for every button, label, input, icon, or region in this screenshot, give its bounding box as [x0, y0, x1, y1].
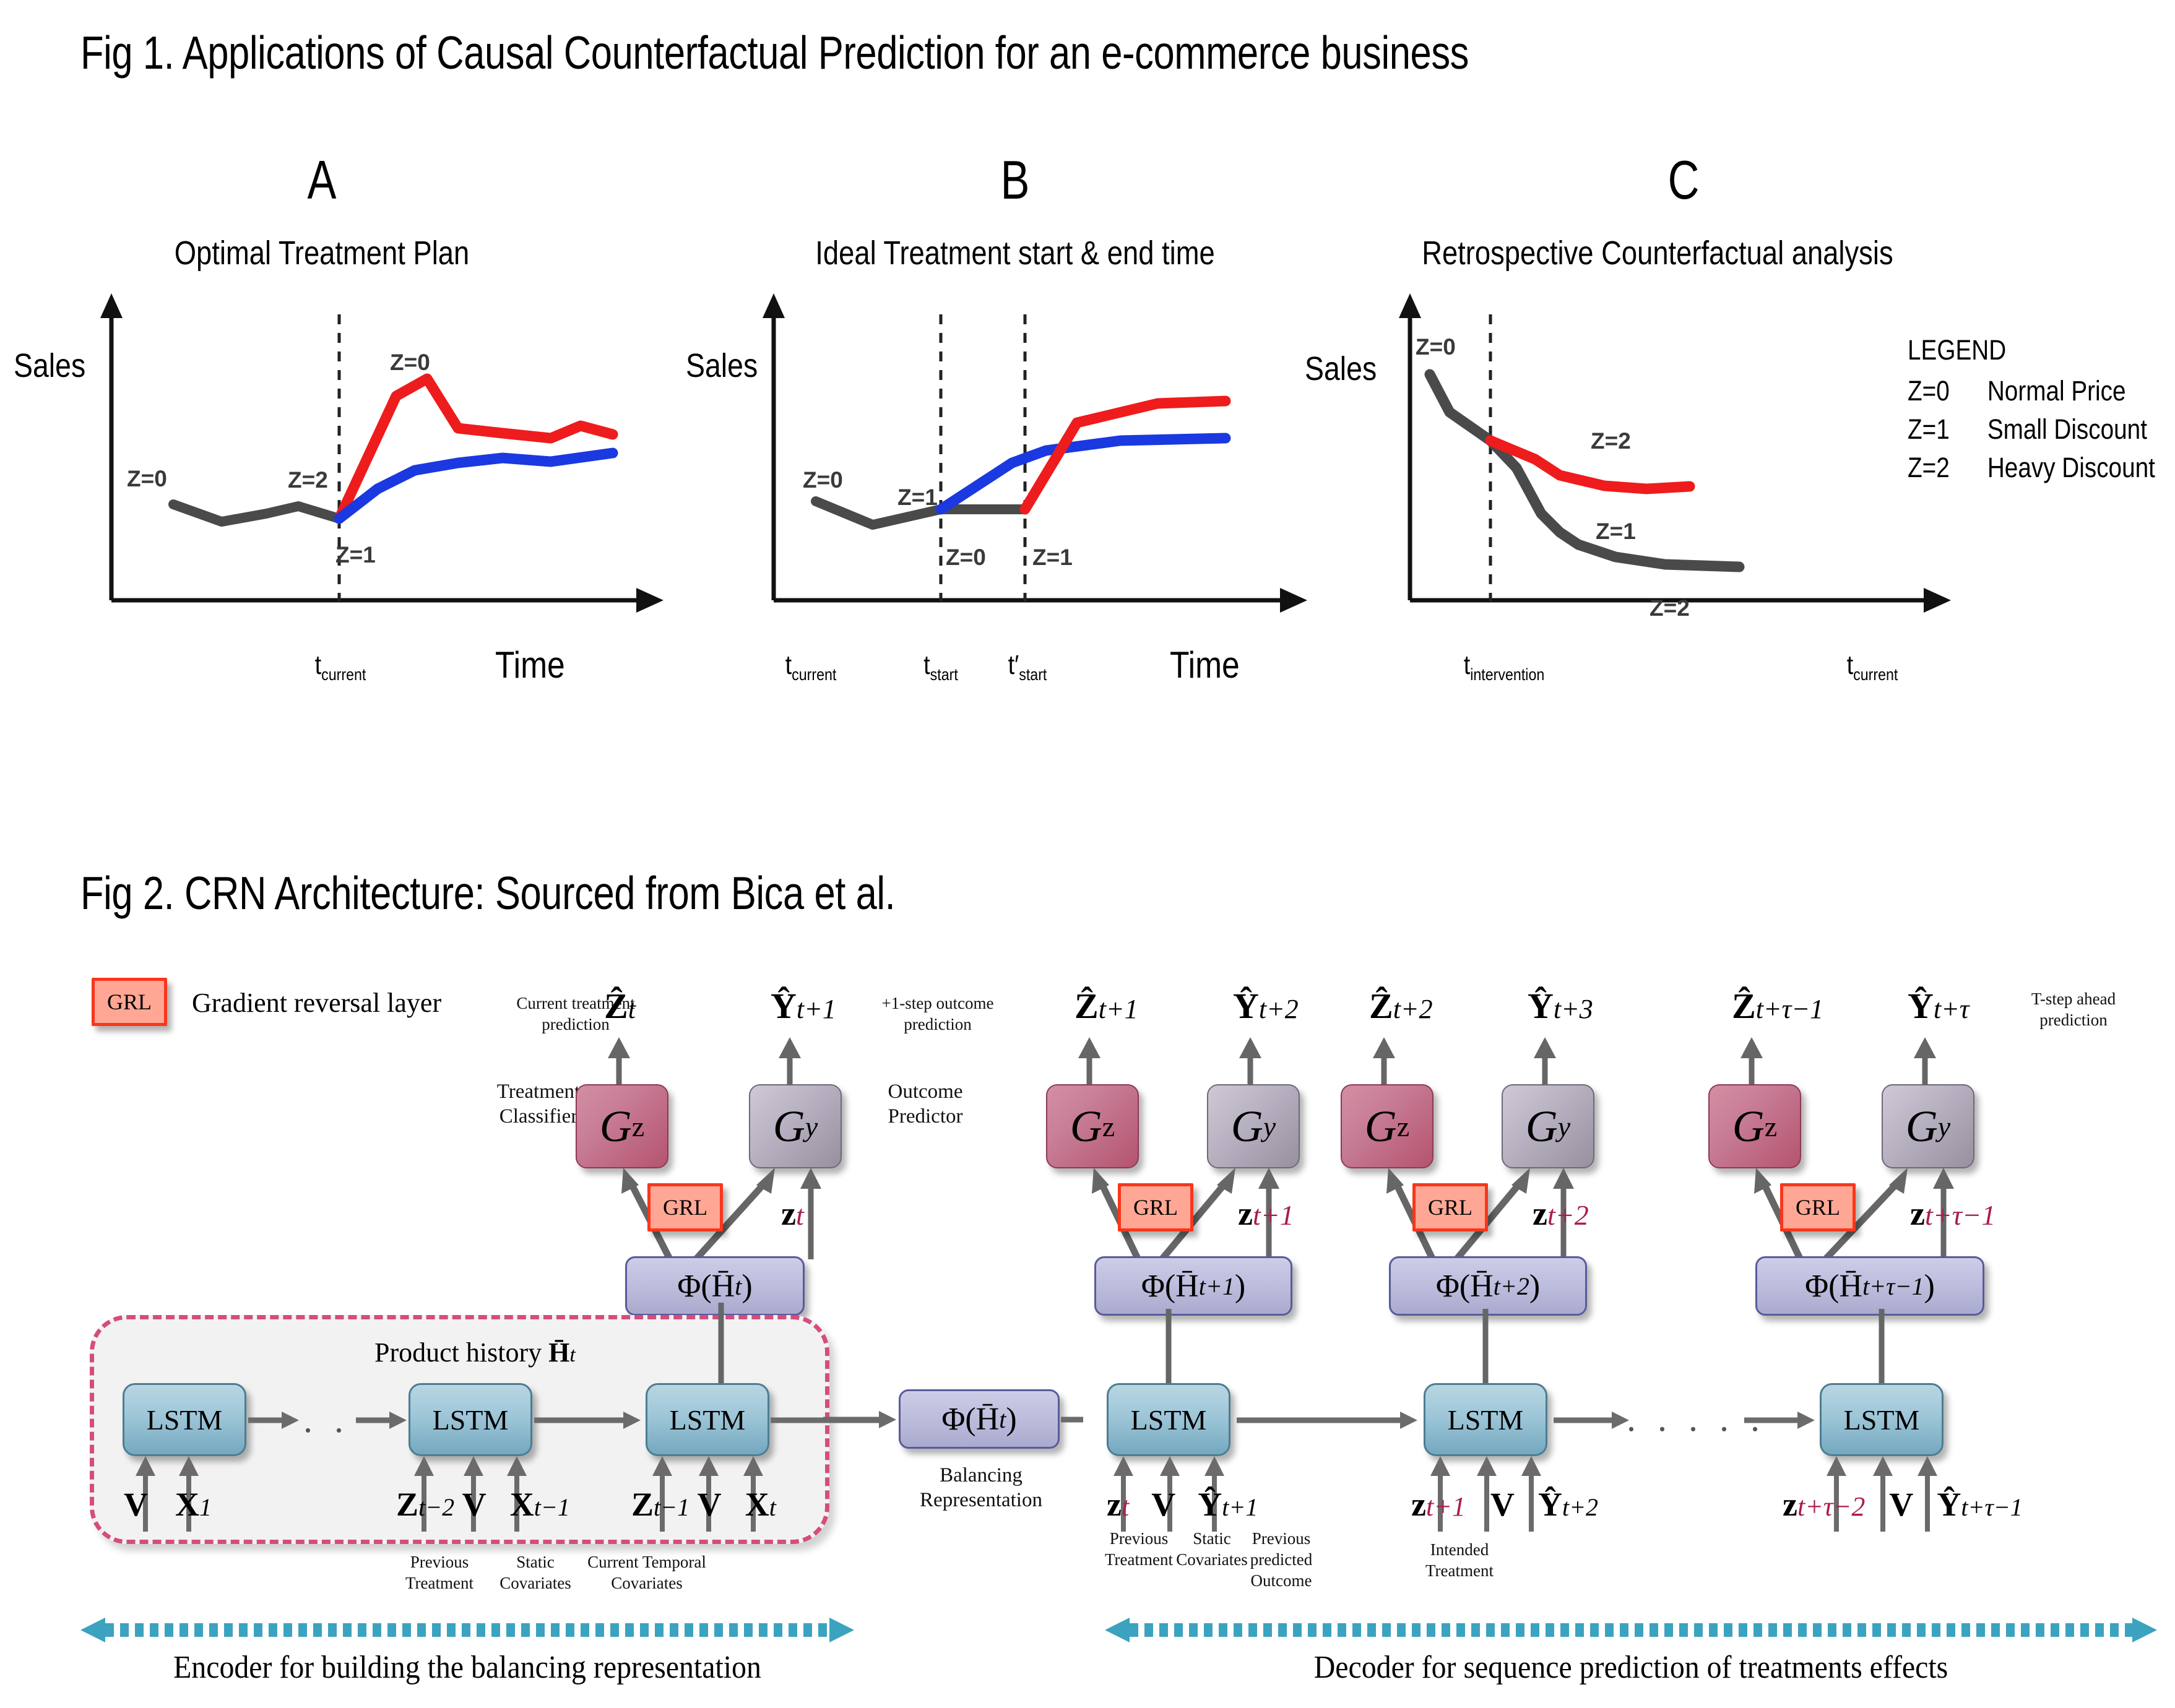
gy-box-decoder-last: Gy [1882, 1084, 1974, 1168]
gy-box-encoder-head: Gy [749, 1084, 842, 1168]
note-line-2: Treatment [1404, 1561, 1515, 1582]
legend-row: Z=0 Normal Price [1908, 375, 2155, 407]
grl-box-encoder-head: GRL [647, 1183, 723, 1231]
y-hat-symbol: Ŷ [1528, 986, 1554, 1026]
label-line-2: Representation [897, 1488, 1065, 1513]
lstm-decoder-2-inputs: zt+1 V Ŷt+2 [1411, 1485, 1598, 1524]
balancing-representation-label: Balancing Representation [897, 1464, 1065, 1512]
input-subscript: t−1 [534, 1493, 570, 1521]
panel-b-annotation-z0-lower: Z=0 [946, 545, 986, 571]
gz-symbol: G [1070, 1101, 1102, 1152]
input-symbol-z: z [1411, 1486, 1426, 1523]
gy-symbol: G [773, 1101, 805, 1152]
phi-box-encoder-head: Φ(H̄t) [625, 1256, 805, 1316]
panel-b-annotation-z0-left: Z=0 [803, 467, 843, 493]
phi-subscript: t+2 [1494, 1272, 1529, 1301]
note-line-3: Outcome [1232, 1571, 1331, 1592]
z-hat-output-decoder-last: Ẑt+τ−1 [1732, 985, 1823, 1027]
note-line-1: Intended [1404, 1540, 1515, 1561]
decoder-input-note-intended-treatment: IntendedTreatment [1404, 1540, 1515, 1582]
tick-base: t [1847, 650, 1854, 680]
panel-b-annotation-z1-lower: Z=1 [1032, 545, 1073, 571]
legend-row: Z=1 Small Discount [1908, 413, 2155, 446]
lstm-encoder-2-inputs: Zt−2 V Xt−1 [396, 1485, 570, 1524]
lstm-decoder-3-inputs: zt+τ−2 V Ŷt+τ−1 [1783, 1485, 2023, 1524]
input-symbol-z: Z [396, 1486, 418, 1523]
encoder-caption: Encoder for building the balancing repre… [111, 1649, 823, 1686]
z-hat-output-encoder-head: Ẑt [604, 985, 636, 1027]
phi-subscript: t+1 [1199, 1272, 1235, 1301]
input-symbol-v: V [698, 1486, 721, 1523]
note-line-2: Covariates [576, 1573, 718, 1594]
input-symbol-z: z [1783, 1486, 1797, 1523]
input-symbol-x: X [510, 1486, 534, 1523]
decoder-caption: Decoder for sequence prediction of treat… [1147, 1649, 2115, 1686]
legend-code: Z=2 [1908, 452, 1950, 483]
grl-legend-box-label: GRL [107, 989, 152, 1015]
grl-label: GRL [1428, 1194, 1472, 1220]
label-line-1: Outcome [860, 1080, 990, 1105]
input-subscript: 1 [199, 1493, 212, 1521]
panel-a-y-axis-label: Sales [14, 347, 85, 385]
phi-box-decoder-last: Φ(H̄t+τ−1) [1755, 1256, 1984, 1316]
phi-subscript: t+τ−1 [1862, 1272, 1924, 1301]
legend-desc: Normal Price [1987, 375, 2126, 407]
note-line-2: Treatment [384, 1573, 495, 1594]
gy-symbol: G [1231, 1101, 1263, 1152]
grl-legend-box: GRL [92, 978, 167, 1026]
gz-box-encoder-head: Gz [576, 1084, 668, 1168]
z-hat-subscript: t [628, 994, 636, 1024]
z-hat-subscript: t+2 [1393, 994, 1433, 1024]
encoder-span-arrow [80, 1616, 854, 1644]
panel-b-x-axis-label: Time [1170, 644, 1240, 686]
note-line-1: Current Temporal [576, 1552, 718, 1573]
phi-text: Φ(H̄ [677, 1268, 735, 1305]
z-hat-symbol: Ẑ [1369, 986, 1393, 1026]
encoder-ellipsis: . . [303, 1399, 350, 1441]
panel-b-tick-tprimestart: t′start [974, 650, 1081, 684]
note-line-1: +1-step outcome [860, 993, 1015, 1014]
panel-b-tick-tcurrent: tcurrent [752, 650, 869, 684]
input-subscript: t+τ−1 [1961, 1493, 2022, 1521]
label-line-1: Balancing [897, 1464, 1065, 1488]
panel-letter-a: A [282, 149, 361, 212]
z-input-subscript: t+τ−1 [1925, 1199, 1996, 1231]
gz-symbol: G [600, 1101, 632, 1152]
z-hat-subscript: t+τ−1 [1756, 994, 1823, 1024]
panel-subtitle-a: Optimal Treatment Plan [135, 234, 509, 272]
decoder-span-arrow [1105, 1616, 2157, 1644]
encoder-arrows [90, 1377, 882, 1556]
tick-sub: start [930, 665, 958, 684]
grl-label: GRL [1133, 1194, 1178, 1220]
grl-legend-description: Gradient reversal layer [192, 987, 441, 1019]
panel-c-annotation-z2-lower: Z=2 [1650, 595, 1690, 621]
phi-subscript: t [735, 1272, 742, 1301]
gy-subscript: y [805, 1110, 818, 1143]
panel-c-tick-tcurrent: tcurrent [1811, 650, 1934, 684]
legend-code: Z=0 [1908, 375, 1950, 407]
gz-box-decoder-2: Gz [1341, 1084, 1433, 1168]
z-input-subscript: t+2 [1547, 1199, 1589, 1231]
fig1-legend: LEGEND Z=0 Normal Price Z=1 Small Discou… [1908, 334, 2175, 484]
z-input-decoder-2: zt+2 [1533, 1194, 1589, 1233]
note-line-1: T-step ahead [2002, 989, 2145, 1010]
z-input-symbol: z [781, 1195, 796, 1232]
phi-box-decoder-2: Φ(H̄t+2) [1389, 1256, 1587, 1316]
note-line-1: Previous [384, 1552, 495, 1573]
phi-text: Φ(H̄ [1141, 1268, 1199, 1305]
fig1-title: Fig 1. Applications of Causal Counterfac… [80, 26, 1469, 79]
legend-heading: LEGEND [1908, 334, 2155, 366]
z-input-encoder-head: zt [781, 1194, 804, 1233]
panel-a-annotation-z0-left: Z=0 [127, 466, 167, 492]
input-symbol-yhat: Ŷ [1198, 1486, 1222, 1523]
y-hat-output-decoder-2: Ŷt+3 [1528, 985, 1593, 1027]
gy-subscript: y [1558, 1110, 1570, 1143]
tick-base: t [785, 650, 792, 680]
tick-base: t′ [1008, 650, 1019, 680]
encoder-input-note-current-temporal-covariates: Current TemporalCovariates [576, 1552, 718, 1594]
product-history-subscript: t [569, 1344, 575, 1366]
tick-base: t [923, 650, 930, 680]
z-hat-symbol: Ẑ [1732, 986, 1756, 1026]
input-symbol-x: X [175, 1486, 199, 1523]
tick-sub: intervention [1470, 665, 1544, 684]
input-subscript: t+1 [1426, 1491, 1466, 1522]
panel-subtitle-c: Retrospective Counterfactual analysis [1422, 234, 1859, 272]
phi-close: ) [1924, 1268, 1934, 1305]
z-input-symbol: z [1238, 1195, 1253, 1232]
y-hat-subscript: t+2 [1259, 994, 1299, 1024]
note-line-2: predicted [1232, 1550, 1331, 1571]
product-history-label: Product history H̄t [374, 1337, 576, 1368]
gz-symbol: G [1365, 1101, 1397, 1152]
input-symbol-yhat: Ŷ [1937, 1486, 1961, 1523]
product-history-symbol: H̄ [548, 1337, 569, 1368]
input-subscript: t+1 [1222, 1493, 1258, 1521]
tick-sub: start [1019, 665, 1047, 684]
tick-sub: current [321, 665, 366, 684]
tick-sub: current [1853, 665, 1898, 684]
note-line-1: Previous [1232, 1529, 1331, 1550]
encoder-input-note-previous-treatment: PreviousTreatment [384, 1552, 495, 1594]
panel-c-annotation-z0: Z=0 [1416, 334, 1456, 360]
input-subscript: t−1 [654, 1493, 690, 1521]
grl-box-decoder-1: GRL [1118, 1183, 1193, 1231]
legend-row: Z=2 Heavy Discount [1908, 452, 2155, 484]
y-hat-output-decoder-last: Ŷt+τ [1908, 985, 1970, 1027]
phi-box-decoder-1: Φ(H̄t+1) [1094, 1256, 1292, 1316]
gz-box-decoder-1: Gz [1046, 1084, 1139, 1168]
z-input-decoder-last: zt+τ−1 [1910, 1194, 1996, 1233]
legend-desc: Heavy Discount [1987, 452, 2155, 483]
panel-c-y-axis-label: Sales [1305, 350, 1377, 388]
note-line-2: Covariates [480, 1573, 591, 1594]
one-step-outcome-prediction-note: +1-step outcome prediction [860, 993, 1015, 1035]
label-line-2: Predictor [860, 1105, 990, 1129]
z-input-symbol: z [1910, 1195, 1925, 1232]
legend-code: Z=1 [1908, 413, 1950, 445]
input-symbol-v: V [462, 1486, 486, 1523]
z-hat-symbol: Ẑ [604, 986, 628, 1026]
input-symbol-yhat: Ŷ [1538, 1486, 1562, 1523]
legend-desc: Small Discount [1987, 413, 2147, 445]
y-hat-subscript: t+3 [1554, 994, 1593, 1024]
input-symbol-z: Z [631, 1486, 654, 1523]
phi-close: ) [1235, 1268, 1245, 1305]
gz-subscript: z [1397, 1110, 1409, 1143]
input-subscript: t+2 [1562, 1493, 1598, 1521]
panel-subtitle-b: Ideal Treatment start & end time [802, 234, 1229, 272]
z-input-decoder-1: zt+1 [1238, 1194, 1294, 1233]
z-hat-output-decoder-1: Ẑt+1 [1075, 985, 1138, 1027]
note-line-2: prediction [860, 1014, 1015, 1035]
input-symbol-v: V [124, 1486, 147, 1523]
input-symbol-x: X [745, 1486, 769, 1523]
gy-subscript: y [1263, 1110, 1276, 1143]
decoder-ellipsis: . . . . . [1627, 1397, 1766, 1440]
panel-c-annotation-z1: Z=1 [1596, 519, 1636, 545]
gz-subscript: z [1102, 1110, 1115, 1143]
grl-label: GRL [1796, 1194, 1840, 1220]
panel-c-annotation-z2-upper: Z=2 [1591, 428, 1631, 454]
panel-c-tick-tintervention: tintervention [1435, 650, 1573, 684]
gz-symbol: G [1732, 1101, 1765, 1152]
z-input-subscript: t [796, 1199, 804, 1231]
input-subscript: t−2 [418, 1493, 454, 1521]
phi-close: ) [742, 1268, 752, 1305]
panel-letter-c: C [1644, 149, 1723, 212]
panel-a-annotation-z1: Z=1 [335, 542, 376, 568]
y-hat-symbol: Ŷ [1233, 986, 1259, 1026]
product-history-text: Product history [374, 1337, 542, 1368]
gy-box-decoder-1: Gy [1207, 1084, 1300, 1168]
z-input-symbol: z [1533, 1195, 1547, 1232]
gy-subscript: y [1938, 1110, 1950, 1143]
tick-base: t [315, 650, 322, 680]
tick-sub: current [792, 665, 836, 684]
z-hat-output-decoder-2: Ẑt+2 [1369, 985, 1433, 1027]
panel-b-y-axis-label: Sales [686, 347, 758, 385]
grl-label: GRL [663, 1194, 707, 1220]
y-hat-subscript: t+1 [797, 994, 836, 1024]
panel-a-tick-tcurrent: tcurrent [282, 650, 399, 684]
balancing-connector-arrows [823, 1405, 1083, 1442]
input-symbol-v: V [1889, 1486, 1913, 1523]
input-subscript: t [769, 1493, 776, 1521]
panel-letter-b: B [975, 149, 1055, 212]
gy-symbol: G [1906, 1101, 1938, 1152]
gy-symbol: G [1526, 1101, 1558, 1152]
gy-box-decoder-2: Gy [1502, 1084, 1594, 1168]
z-hat-symbol: Ẑ [1075, 986, 1099, 1026]
note-line-2: prediction [2002, 1010, 2145, 1031]
panel-b-annotation-z1-upper: Z=1 [897, 485, 938, 511]
input-symbol-v: V [1151, 1486, 1175, 1523]
fig2-title: Fig 2. CRN Architecture: Sourced from Bi… [80, 866, 895, 920]
grl-box-decoder-last: GRL [1780, 1183, 1856, 1231]
gz-subscript: z [1765, 1110, 1777, 1143]
phi-close: ) [1529, 1268, 1540, 1305]
outcome-predictor-label: Outcome Predictor [860, 1080, 990, 1129]
y-hat-output-encoder-head: Ŷt+1 [771, 985, 836, 1027]
encoder-input-note-static-covariates: StaticCovariates [480, 1552, 591, 1594]
phi-text: Φ(H̄ [1436, 1268, 1494, 1305]
panel-a-x-axis-label: Time [495, 644, 565, 686]
y-hat-symbol: Ŷ [1908, 986, 1934, 1026]
lstm-decoder-1-inputs: zt V Ŷt+1 [1107, 1485, 1258, 1524]
panel-a-annotation-z2: Z=2 [288, 467, 328, 493]
lstm-encoder-1-inputs: V X1 [124, 1485, 212, 1524]
y-hat-subscript: t+τ [1934, 994, 1970, 1024]
decoder-input-note-previous-predicted-outcome: PreviouspredictedOutcome [1232, 1529, 1331, 1591]
tick-base: t [1464, 650, 1471, 680]
note-line-1: Static [480, 1552, 591, 1573]
input-symbol-v: V [1490, 1486, 1514, 1523]
y-hat-output-decoder-1: Ŷt+2 [1233, 985, 1299, 1027]
input-subscript: t [1122, 1491, 1129, 1522]
t-step-ahead-prediction-note: T-step ahead prediction [2002, 989, 2145, 1031]
y-hat-symbol: Ŷ [771, 986, 797, 1026]
input-subscript: t+τ−2 [1797, 1491, 1865, 1522]
phi-text: Φ(H̄ [1805, 1268, 1862, 1305]
z-input-subscript: t+1 [1253, 1199, 1294, 1231]
gz-box-decoder-last: Gz [1708, 1084, 1801, 1168]
lstm-encoder-3-inputs: Zt−1 V Xt [631, 1485, 776, 1524]
input-symbol-z: z [1107, 1486, 1122, 1523]
grl-box-decoder-2: GRL [1412, 1183, 1488, 1231]
z-hat-subscript: t+1 [1099, 994, 1138, 1024]
gz-subscript: z [632, 1110, 644, 1143]
panel-a-annotation-z0-right: Z=0 [390, 350, 430, 376]
